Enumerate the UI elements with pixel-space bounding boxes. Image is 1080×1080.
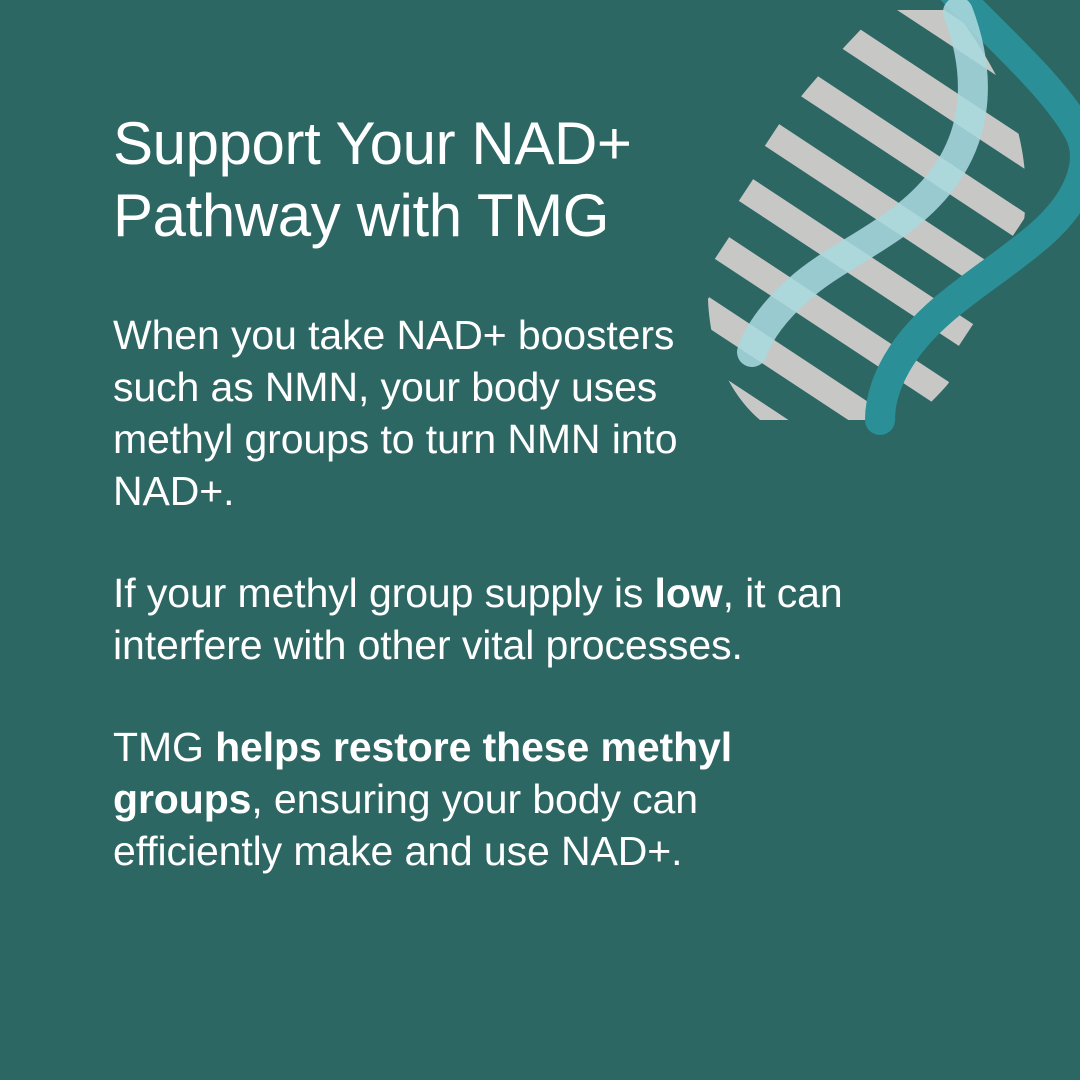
promotional-graphic-canvas: Support Your NAD+ Pathway with TMG When … <box>0 0 1080 1080</box>
page-title: Support Your NAD+ Pathway with TMG <box>113 108 813 252</box>
body-paragraph-1: When you take NAD+ boosters such as NMN,… <box>113 309 688 517</box>
paragraph-2-emphasis-low: low <box>655 570 723 616</box>
paragraph-1-text: When you take NAD+ boosters such as NMN,… <box>113 312 677 514</box>
text-content-block: Support Your NAD+ Pathway with TMG When … <box>113 108 943 877</box>
paragraph-2-text-lead: If your methyl group supply is <box>113 570 655 616</box>
body-paragraph-2: If your methyl group supply is low, it c… <box>113 567 913 671</box>
body-paragraph-3: TMG helps restore these methyl groups, e… <box>113 721 873 877</box>
paragraph-3-text-lead: TMG <box>113 724 215 770</box>
